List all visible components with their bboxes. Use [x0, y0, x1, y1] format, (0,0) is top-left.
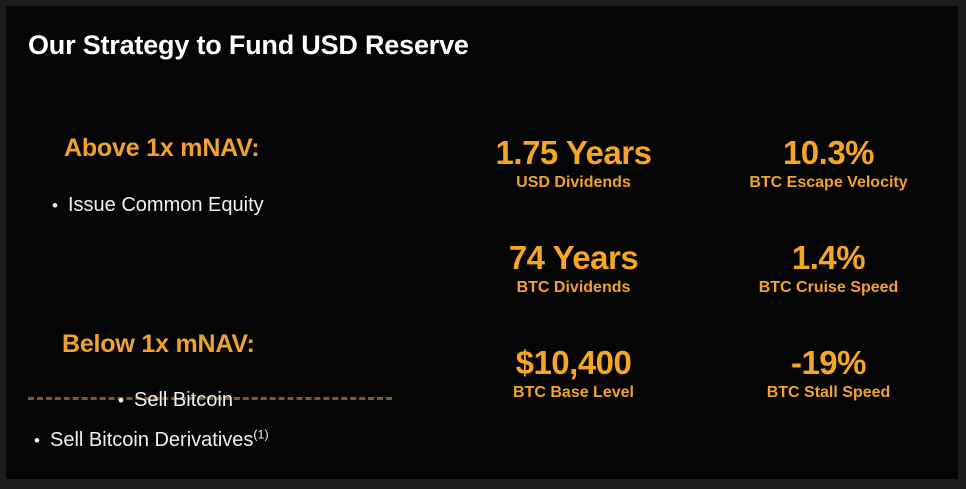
metric-value: 1.4%: [701, 241, 956, 276]
metric-value: $10,400: [446, 346, 701, 381]
metric-btc-stall-speed: -19% BTC Stall Speed: [701, 342, 956, 447]
below-mnav-heading: Below 1x mNAV:: [62, 330, 255, 359]
metric-value: 10.3%: [701, 136, 956, 171]
metric-btc-escape-velocity: 10.3% BTC Escape Velocity: [701, 132, 956, 237]
below-bullet-label-2: Sell Bitcoin Derivatives(1): [50, 429, 269, 452]
above-mnav-heading: Above 1x mNAV:: [64, 134, 259, 163]
metric-value: 1.75 Years: [446, 136, 701, 171]
metric-label: BTC Cruise Speed: [701, 279, 956, 297]
metric-label: BTC Base Level: [446, 384, 701, 402]
below-bullet-text-2: Sell Bitcoin Derivatives: [50, 429, 253, 451]
bullet-dot-icon: •: [34, 432, 50, 449]
list-item: • Sell Bitcoin Derivatives(1): [34, 429, 269, 452]
metrics-grid: 1.75 Years USD Dividends 10.3% BTC Escap…: [446, 132, 956, 447]
metric-usd-dividends: 1.75 Years USD Dividends: [446, 132, 701, 237]
metric-btc-cruise-speed: 1.4% BTC Cruise Speed: [701, 237, 956, 342]
metric-label: BTC Escape Velocity: [701, 174, 956, 192]
bullet-dot-icon: •: [52, 197, 68, 214]
metric-label: USD Dividends: [446, 174, 701, 192]
metric-label: BTC Stall Speed: [701, 384, 956, 402]
slide-canvas: Our Strategy to Fund USD Reserve Above 1…: [6, 6, 958, 479]
list-item: • Issue Common Equity: [52, 194, 264, 217]
list-item: • Sell Bitcoin: [118, 389, 233, 412]
metric-btc-dividends: 74 Years BTC Dividends: [446, 237, 701, 342]
metric-value: -19%: [701, 346, 956, 381]
metric-label: BTC Dividends: [446, 279, 701, 297]
below-bullet-label-1: Sell Bitcoin: [134, 389, 233, 412]
slide-frame: Our Strategy to Fund USD Reserve Above 1…: [0, 0, 966, 489]
page-title: Our Strategy to Fund USD Reserve: [28, 30, 469, 61]
metric-btc-base-level: $10,400 BTC Base Level: [446, 342, 701, 447]
metric-value: 74 Years: [446, 241, 701, 276]
footnote-marker: (1): [253, 427, 268, 441]
above-bullet-label: Issue Common Equity: [68, 194, 264, 217]
bullet-dot-icon: •: [118, 392, 134, 409]
